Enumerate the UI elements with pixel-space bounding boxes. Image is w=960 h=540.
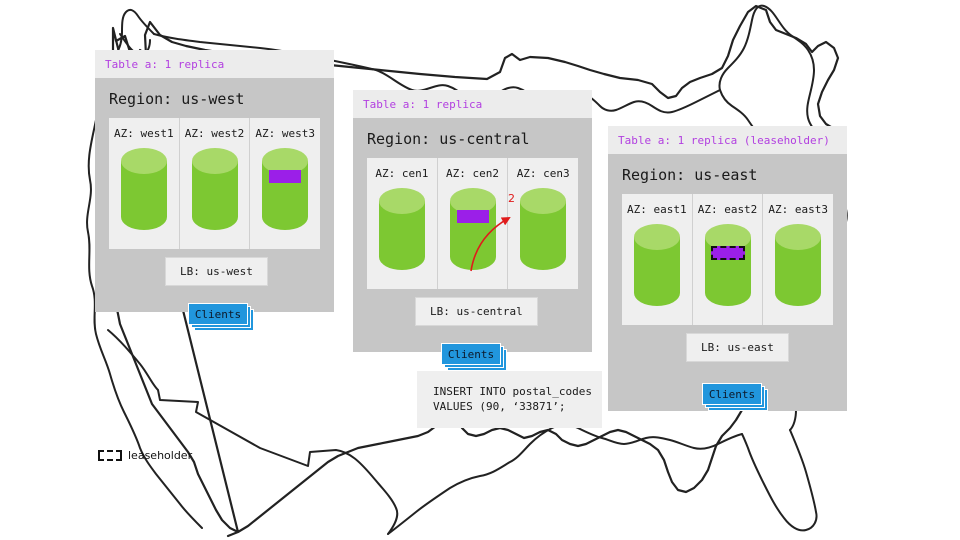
replica-block-cen2[interactable]: [457, 210, 489, 223]
clients-us-east[interactable]: Clients: [702, 383, 762, 405]
sql-statement-box: INSERT INTO postal_codes VALUES (90, ‘33…: [417, 371, 602, 428]
load-balancer-us-west[interactable]: LB: us-west: [165, 257, 268, 286]
az-label-east1: AZ: east1: [622, 203, 692, 216]
cylinder-icon: [378, 187, 426, 271]
az-label-west1: AZ: west1: [109, 127, 179, 140]
region-title-us-west: Region: us-west: [95, 78, 334, 118]
diagram-canvas: 2 Table a: 1 replica Region: us-west AZ:…: [0, 0, 960, 540]
region-panel-us-central: Table a: 1 replica Region: us-central AZ…: [353, 90, 592, 352]
replica-block-east2-leaseholder[interactable]: [711, 246, 745, 260]
step-2-label: 2: [508, 192, 515, 205]
az-cell-cen2[interactable]: AZ: cen2: [437, 158, 508, 289]
cylinder-icon: [633, 223, 681, 307]
clients-card-front[interactable]: Clients: [702, 383, 762, 405]
az-cell-west2[interactable]: AZ: west2: [179, 118, 250, 249]
az-label-east3: AZ: east3: [763, 203, 833, 216]
load-balancer-us-east[interactable]: LB: us-east: [686, 333, 789, 362]
coast-florida: [742, 430, 817, 530]
node-cylinder-east2[interactable]: [704, 223, 752, 311]
border-southwest: [108, 330, 397, 534]
node-cylinder-cen2[interactable]: [449, 187, 497, 275]
az-cell-west3[interactable]: AZ: west3: [249, 118, 320, 249]
replica-block-west3[interactable]: [269, 170, 301, 183]
leaseholder-dashed-swatch: [98, 450, 122, 461]
clients-us-central[interactable]: Clients: [441, 343, 501, 365]
az-cell-east1[interactable]: AZ: east1: [622, 194, 692, 325]
cylinder-icon: [774, 223, 822, 307]
region-header-us-west: Table a: 1 replica: [95, 50, 334, 78]
az-label-east2: AZ: east2: [693, 203, 763, 216]
az-label-cen1: AZ: cen1: [367, 167, 437, 180]
region-header-us-central: Table a: 1 replica: [353, 90, 592, 118]
node-cylinder-cen1[interactable]: [378, 187, 426, 275]
az-label-west3: AZ: west3: [250, 127, 320, 140]
az-cell-east3[interactable]: AZ: east3: [762, 194, 833, 325]
coast-gulf: [388, 425, 742, 534]
az-row-us-west: AZ: west1 AZ: west2: [109, 118, 320, 249]
region-title-us-east: Region: us-east: [608, 154, 847, 194]
clients-card-front[interactable]: Clients: [188, 303, 248, 325]
az-row-us-east: AZ: east1 AZ: east2: [622, 194, 833, 325]
clients-card-front[interactable]: Clients: [441, 343, 501, 365]
region-body-us-west: Region: us-west AZ: west1 AZ: west2: [95, 78, 334, 312]
region-panel-us-east: Table a: 1 replica (leaseholder) Region:…: [608, 126, 847, 411]
node-cylinder-west2[interactable]: [191, 147, 239, 235]
az-cell-west1[interactable]: AZ: west1: [109, 118, 179, 249]
node-cylinder-west3[interactable]: [261, 147, 309, 235]
legend-label: leaseholder: [128, 449, 192, 462]
region-body-us-east: Region: us-east AZ: east1 AZ: east2: [608, 154, 847, 411]
region-title-us-central: Region: us-central: [353, 118, 592, 158]
az-cell-cen3[interactable]: AZ: cen3: [507, 158, 578, 289]
cylinder-icon: [519, 187, 567, 271]
node-cylinder-west1[interactable]: [120, 147, 168, 235]
az-cell-cen1[interactable]: AZ: cen1: [367, 158, 437, 289]
cylinder-icon: [191, 147, 239, 231]
region-panel-us-west: Table a: 1 replica Region: us-west AZ: w…: [95, 50, 334, 312]
az-label-cen2: AZ: cen2: [438, 167, 508, 180]
node-cylinder-east1[interactable]: [633, 223, 681, 311]
node-cylinder-cen3[interactable]: [519, 187, 567, 275]
cylinder-icon: [120, 147, 168, 231]
az-cell-east2[interactable]: AZ: east2: [692, 194, 763, 325]
cylinder-icon: [261, 147, 309, 231]
az-label-west2: AZ: west2: [180, 127, 250, 140]
cylinder-icon: [449, 187, 497, 271]
load-balancer-us-central[interactable]: LB: us-central: [415, 297, 538, 326]
az-row-us-central: AZ: cen1 AZ: cen2: [367, 158, 578, 289]
clients-us-west[interactable]: Clients: [188, 303, 248, 325]
region-header-us-east: Table a: 1 replica (leaseholder): [608, 126, 847, 154]
node-cylinder-east3[interactable]: [774, 223, 822, 311]
region-body-us-central: Region: us-central AZ: cen1 AZ: cen2: [353, 118, 592, 352]
legend: leaseholder: [98, 449, 192, 462]
cylinder-icon: [704, 223, 752, 307]
az-label-cen3: AZ: cen3: [508, 167, 578, 180]
